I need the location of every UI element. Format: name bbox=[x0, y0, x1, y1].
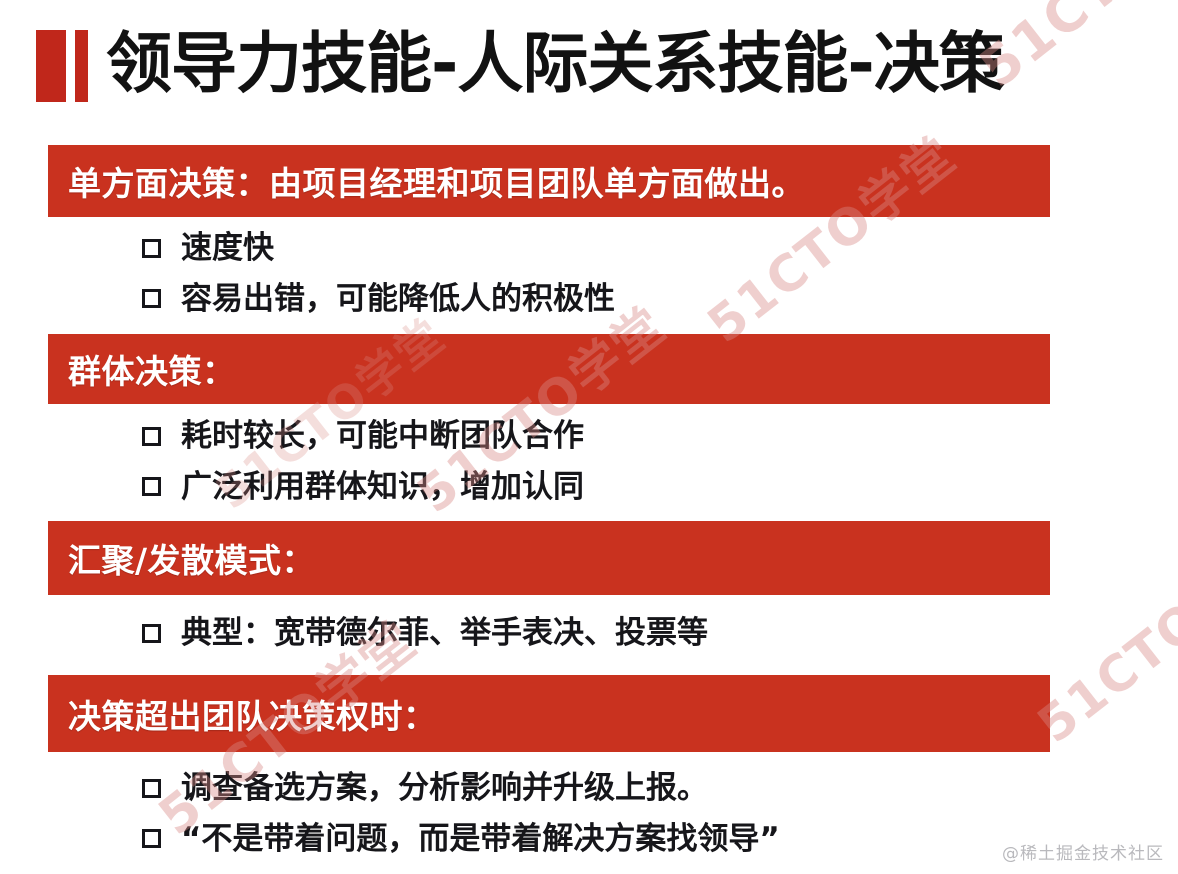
slide-canvas: 51CTO学堂 51CTO学堂 51CTO学堂 51CTO学堂 51CTO学堂 … bbox=[0, 0, 1178, 874]
list-item: “不是带着问题，而是带着解决方案找领导” bbox=[142, 821, 780, 858]
list-item-label: 典型：宽带德尔菲、举手表决、投票等 bbox=[181, 615, 708, 652]
bullet-list-1: 速度快 容易出错，可能降低人的积极性 bbox=[142, 230, 615, 317]
list-item-label: 调查备选方案，分析影响并升级上报。 bbox=[181, 770, 708, 807]
double-bar-icon bbox=[36, 30, 88, 102]
section-heading-banner-3: 汇聚/发散模式： bbox=[48, 521, 1050, 595]
hollow-square-bullet-icon bbox=[142, 477, 161, 496]
list-item-label: 容易出错，可能降低人的积极性 bbox=[181, 281, 615, 318]
hollow-square-bullet-icon bbox=[142, 289, 161, 308]
list-item: 调查备选方案，分析影响并升级上报。 bbox=[142, 770, 780, 807]
bullet-list-3: 典型：宽带德尔菲、举手表决、投票等 bbox=[142, 615, 708, 652]
section-heading-banner-4: 决策超出团队决策权时： bbox=[48, 675, 1050, 752]
section-heading-text: 群体决策： bbox=[68, 345, 236, 393]
list-item: 容易出错，可能降低人的积极性 bbox=[142, 281, 615, 318]
section-heading-text: 汇聚/发散模式： bbox=[68, 534, 315, 582]
section-heading-banner-1: 单方面决策：由项目经理和项目团队单方面做出。 bbox=[48, 145, 1050, 217]
hollow-square-bullet-icon bbox=[142, 829, 161, 848]
section-heading-banner-2: 群体决策： bbox=[48, 334, 1050, 404]
credit-watermark: @稀土掘金技术社区 bbox=[1002, 839, 1164, 864]
hollow-square-bullet-icon bbox=[142, 239, 161, 258]
list-item: 速度快 bbox=[142, 230, 615, 267]
list-item: 广泛利用群体知识，增加认同 bbox=[142, 469, 584, 506]
list-item: 耗时较长，可能中断团队合作 bbox=[142, 418, 584, 455]
bar-narrow-icon bbox=[75, 30, 88, 102]
section-heading-text: 单方面决策：由项目经理和项目团队单方面做出。 bbox=[68, 157, 805, 205]
page-title: 领导力技能-人际关系技能-决策 bbox=[36, 20, 1004, 108]
bar-wide-icon bbox=[36, 30, 66, 102]
bullet-list-2: 耗时较长，可能中断团队合作 广泛利用群体知识，增加认同 bbox=[142, 418, 584, 505]
list-item-label: 速度快 bbox=[181, 230, 274, 267]
section-heading-text: 决策超出团队决策权时： bbox=[68, 690, 437, 738]
bullet-list-4: 调查备选方案，分析影响并升级上报。 “不是带着问题，而是带着解决方案找领导” bbox=[142, 770, 780, 857]
list-item: 典型：宽带德尔菲、举手表决、投票等 bbox=[142, 615, 708, 652]
page-title-text: 领导力技能-人际关系技能-决策 bbox=[106, 31, 1004, 97]
list-item-label: 广泛利用群体知识，增加认同 bbox=[181, 469, 584, 506]
hollow-square-bullet-icon bbox=[142, 779, 161, 798]
hollow-square-bullet-icon bbox=[142, 427, 161, 446]
hollow-square-bullet-icon bbox=[142, 624, 161, 643]
list-item-label: 耗时较长，可能中断团队合作 bbox=[181, 418, 584, 455]
list-item-label: “不是带着问题，而是带着解决方案找领导” bbox=[181, 821, 780, 858]
